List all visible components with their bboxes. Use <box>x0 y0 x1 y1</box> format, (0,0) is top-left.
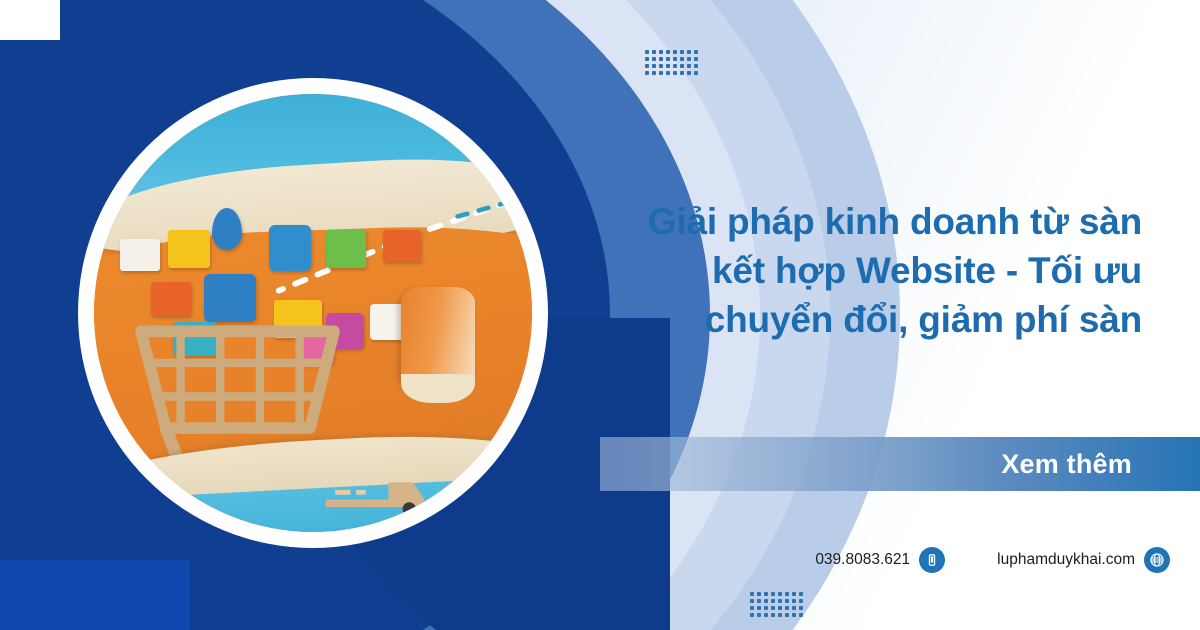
headline-line-1: Giải pháp kinh doanh từ sàn <box>602 198 1142 247</box>
dot <box>680 71 684 75</box>
dot <box>666 71 670 75</box>
dot <box>785 613 789 617</box>
chip-white-cart-icon <box>120 239 160 271</box>
dot <box>750 592 754 596</box>
globe-icon <box>1144 547 1170 573</box>
dot <box>694 57 698 61</box>
dot <box>687 57 691 61</box>
dot <box>666 50 670 54</box>
dot <box>785 592 789 596</box>
dot <box>785 599 789 603</box>
dot <box>645 71 649 75</box>
chip-tag-yellow-icon <box>168 230 210 268</box>
mobile-phone-icon <box>919 547 945 573</box>
dot <box>750 606 754 610</box>
dot <box>757 613 761 617</box>
photo-circle-frame <box>78 78 548 548</box>
dot <box>659 64 663 68</box>
headline-line-2: kết hợp Website - Tối ưu <box>602 247 1142 296</box>
dot <box>757 599 761 603</box>
dot <box>778 599 782 603</box>
dot <box>764 599 768 603</box>
contact-phone[interactable]: 039.8083.621 <box>815 547 945 573</box>
dot <box>778 613 782 617</box>
dot <box>771 613 775 617</box>
dot <box>757 592 761 596</box>
dot <box>687 71 691 75</box>
dot <box>680 64 684 68</box>
dot <box>764 606 768 610</box>
dot <box>666 57 670 61</box>
dot <box>659 71 663 75</box>
xem-them-button[interactable]: Xem thêm <box>600 437 1200 491</box>
contact-website-text: luphamduykhai.com <box>997 551 1135 569</box>
dot <box>799 599 803 603</box>
dot <box>694 50 698 54</box>
dot <box>799 613 803 617</box>
dot <box>645 50 649 54</box>
dot <box>673 50 677 54</box>
dot <box>757 606 761 610</box>
dot <box>652 71 656 75</box>
dot <box>792 606 796 610</box>
dot <box>792 592 796 596</box>
chip-check-green-icon <box>326 230 366 268</box>
dot <box>778 606 782 610</box>
dot <box>694 71 698 75</box>
chip-dots-orange-icon <box>383 230 421 262</box>
dot <box>792 599 796 603</box>
chip-shopping-bag-icon <box>269 225 311 271</box>
headline-line-3: chuyển đổi, giảm phí sàn <box>602 296 1142 345</box>
dot <box>771 599 775 603</box>
dot <box>645 64 649 68</box>
dot <box>799 592 803 596</box>
dot <box>771 606 775 610</box>
dot <box>652 64 656 68</box>
dot <box>694 64 698 68</box>
dot-grid-decoration-bottom <box>750 592 803 617</box>
dot <box>792 613 796 617</box>
headline: Giải pháp kinh doanh từ sàn kết hợp Webs… <box>602 198 1142 344</box>
wooden-delivery-truck <box>322 471 436 519</box>
dot <box>680 57 684 61</box>
contact-phone-text: 039.8083.621 <box>815 551 910 569</box>
dot <box>645 57 649 61</box>
dot <box>799 606 803 610</box>
dot <box>764 592 768 596</box>
ecommerce-shopping-cart-photo <box>94 94 532 532</box>
dot <box>673 57 677 61</box>
contact-bar: 039.8083.621 luphamduykhai.com <box>700 540 1170 580</box>
background-white-notch-top-left <box>0 0 60 40</box>
dot <box>771 592 775 596</box>
dot <box>652 57 656 61</box>
contact-website[interactable]: luphamduykhai.com <box>997 547 1170 573</box>
promo-banner: Giải pháp kinh doanh từ sàn kết hợp Webs… <box>0 0 1200 630</box>
background-bright-strip-bottom-left <box>0 560 190 630</box>
dot <box>687 50 691 54</box>
dot <box>680 50 684 54</box>
dot-grid-decoration-top <box>645 50 698 75</box>
xem-them-button-label: Xem thêm <box>1001 449 1200 480</box>
dot <box>673 71 677 75</box>
photo-paper-curl <box>401 287 475 397</box>
dot <box>673 64 677 68</box>
dot <box>659 50 663 54</box>
dot <box>652 50 656 54</box>
dot <box>778 592 782 596</box>
dot <box>687 64 691 68</box>
dot <box>666 64 670 68</box>
dot <box>750 613 754 617</box>
dot <box>659 57 663 61</box>
dot <box>750 599 754 603</box>
dot <box>764 613 768 617</box>
dot <box>785 606 789 610</box>
